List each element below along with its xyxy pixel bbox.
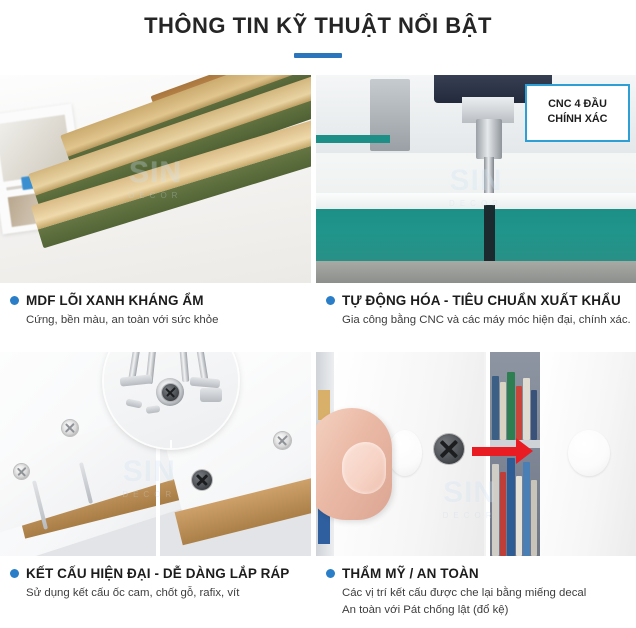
dowel-icon	[120, 374, 153, 386]
finger	[316, 408, 392, 520]
callout-line-1: CNC 4 ĐẦU	[533, 97, 622, 112]
caption-title: MDF LÕI XANH KHÁNG ẨM	[26, 293, 204, 308]
book	[492, 376, 499, 440]
screw-icon	[274, 432, 291, 449]
book	[500, 472, 506, 556]
bullet-icon	[326, 569, 335, 578]
panel-hardware-caption: KẾT CẤU HIỆN ĐẠI - DỄ DÀNG LẮP RÁP Sử dụ…	[0, 556, 311, 628]
book	[516, 386, 522, 440]
rafix-block	[200, 388, 222, 402]
panel-mdf-board-image: SIN DECOR	[0, 75, 311, 283]
book	[516, 476, 522, 556]
screw-long-3	[178, 352, 190, 382]
caption-title: KẾT CẤU HIỆN ĐẠI - DỄ DÀNG LẮP RÁP	[26, 566, 289, 581]
book	[507, 372, 515, 440]
panel-hardware-image: SIN DECOR	[0, 352, 311, 556]
cut-groove	[484, 205, 495, 261]
fingernail	[342, 442, 386, 494]
cnc-callout-box: CNC 4 ĐẦU CHÍNH XÁC	[525, 84, 630, 142]
caption-subtitle-line: Gia công bằng CNC và các máy móc hiện đạ…	[342, 312, 634, 329]
cnc-tool-holder	[476, 119, 502, 159]
screw-icon	[62, 420, 78, 436]
machine-bed	[316, 261, 636, 283]
caption-subtitle-line: Sử dụng kết cấu ốc cam, chốt gỗ, rafix, …	[26, 585, 309, 602]
books-group	[490, 370, 540, 440]
arrow-icon	[472, 438, 533, 464]
book	[492, 464, 499, 556]
caption-subtitle-line: An toàn với Pát chống lật (đổ kệ)	[342, 602, 634, 619]
caption-subtitle: Gia công bằng CNC và các máy móc hiện đạ…	[342, 312, 634, 329]
caption-subtitle: Các vị trí kết cấu được che lại bằng miế…	[342, 585, 634, 618]
small-part	[125, 398, 142, 408]
arrow-shaft	[472, 447, 516, 456]
panel-decal-image: SIN DECOR	[316, 352, 636, 556]
dowel-icon	[190, 377, 221, 389]
book	[507, 458, 515, 556]
decal-cap-applied	[568, 430, 610, 476]
callout-line-2: CHÍNH XÁC	[533, 112, 622, 127]
caption-subtitle: Cứng, bền màu, an toàn với sức khỏe	[26, 312, 309, 329]
arrow-tip	[516, 438, 533, 464]
book	[500, 382, 506, 440]
board-green-core	[316, 209, 636, 267]
magnifier-stem	[170, 440, 172, 448]
title-underline-rule	[294, 53, 342, 58]
watermark-mark: SIN	[449, 166, 503, 196]
caption-subtitle: Sử dụng kết cấu ốc cam, chốt gỗ, rafix, …	[26, 585, 309, 602]
panel-cnc-image: CNC 4 ĐẦU CHÍNH XÁC SIN DECOR	[316, 75, 636, 283]
board-top-face	[316, 193, 636, 209]
panel-cnc-caption: TỰ ĐỘNG HÓA - TIÊU CHUẨN XUẤT KHẨU Gia c…	[316, 283, 636, 352]
panel-decal-caption: THẨM MỸ / AN TOÀN Các vị trí kết cấu đượ…	[316, 556, 636, 628]
small-part	[146, 405, 161, 414]
screw-icon	[192, 470, 212, 490]
page-title: THÔNG TIN KỸ THUẬT NỔI BẬT	[0, 14, 636, 38]
book	[523, 462, 530, 556]
book	[523, 378, 530, 440]
cam-lock-screw-icon	[434, 434, 464, 464]
book	[531, 480, 537, 556]
books-group	[490, 448, 540, 556]
screw-icon	[162, 384, 179, 401]
bullet-icon	[10, 569, 19, 578]
infographic-page: THÔNG TIN KỸ THUẬT NỔI BẬT SIN DECOR	[0, 0, 636, 628]
bullet-icon	[10, 296, 19, 305]
caption-title: THẨM MỸ / AN TOÀN	[342, 566, 479, 581]
panel-mdf-board-caption: MDF LÕI XANH KHÁNG ẨM Cứng, bền màu, an …	[0, 283, 311, 352]
caption-subtitle-line: Các vị trí kết cấu được che lại bằng miế…	[342, 585, 634, 602]
background-board-edge	[316, 135, 390, 143]
feature-grid: SIN DECOR CNC 4 ĐẦU CHÍNH XÁC	[0, 75, 636, 628]
decal-cap-loose	[388, 430, 422, 476]
book	[531, 390, 537, 440]
caption-title: TỰ ĐỘNG HÓA - TIÊU CHUẨN XUẤT KHẨU	[342, 293, 621, 308]
page-header: THÔNG TIN KỸ THUẬT NỔI BẬT	[0, 0, 636, 58]
caption-subtitle-line: Cứng, bền màu, an toàn với sức khỏe	[26, 312, 309, 329]
screw-icon	[14, 464, 29, 479]
bullet-icon	[326, 296, 335, 305]
